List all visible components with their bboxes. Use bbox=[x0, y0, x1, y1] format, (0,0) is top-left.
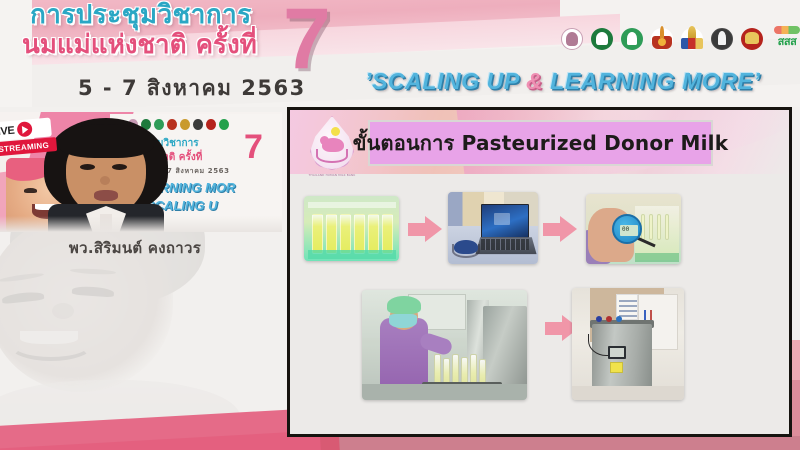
thai-breastfeeding-foundation-logo bbox=[560, 26, 584, 56]
background-band-bottom bbox=[280, 436, 800, 450]
timer-lcd-value: 00 bbox=[622, 226, 629, 233]
speaker-eye-left bbox=[80, 164, 95, 170]
poster-child-eye-left bbox=[24, 188, 37, 193]
conference-title-line2: นมแม่แห่งชาติ ครั้งที่ bbox=[22, 32, 312, 59]
human-milk-bank-drop-icon: THAILAND HUMAN MILK BANK bbox=[304, 116, 360, 178]
streaming-label: STREAMING bbox=[0, 140, 49, 153]
process-arrow-2-icon bbox=[543, 216, 577, 242]
conference-tagline: ’SCALING UP & LEARNING MORE’ bbox=[365, 68, 760, 95]
speaker-nose bbox=[100, 176, 110, 185]
computer-mouse bbox=[454, 240, 478, 254]
speaker-mouth bbox=[94, 190, 118, 201]
speaker-video-inset[interactable]: การประชุมวิชาการ นมแม่แห่งชาติ ครั้งที่ … bbox=[0, 112, 282, 232]
rack-top-bar bbox=[308, 202, 396, 208]
speaker-bottom-fade bbox=[0, 216, 282, 232]
live-streaming-badge: LIVE STREAMING bbox=[0, 117, 58, 161]
digital-timer-photo: 00 bbox=[586, 194, 681, 264]
tagline-part-2: LEARNING MORE’ bbox=[543, 68, 760, 94]
watermark-mouth bbox=[8, 327, 94, 361]
speaker-name-caption: พว.สิริมนต์ คงถาวร bbox=[0, 236, 270, 260]
rack-base bbox=[308, 250, 396, 259]
thaihealth-sss-logo: สสส bbox=[770, 26, 800, 56]
machine-control-panel bbox=[608, 346, 626, 359]
red-emblem-logo bbox=[740, 26, 764, 56]
laptop-keyboard bbox=[481, 239, 529, 250]
royal-institution-red-logo bbox=[650, 26, 674, 56]
drop-cupped-hands bbox=[316, 149, 348, 163]
laptop-record-photo bbox=[448, 192, 538, 264]
milk-drop-highlight bbox=[331, 127, 340, 136]
pasteurizer-machine-photo bbox=[572, 288, 684, 400]
tagline-part-1: ’SCALING UP bbox=[365, 68, 526, 94]
drop-logo-caption: THAILAND HUMAN MILK BANK bbox=[302, 173, 362, 177]
sponsor-logo-row: สสส bbox=[560, 26, 800, 56]
nurse-face-mask bbox=[389, 314, 417, 328]
speaker-person bbox=[44, 118, 168, 232]
ministry-of-public-health-logo bbox=[620, 26, 644, 56]
laptop-screen bbox=[481, 204, 529, 238]
play-icon bbox=[17, 121, 33, 137]
slide-title-text: ขั้นตอนการ Pasteurized Donor Milk bbox=[353, 127, 728, 159]
live-label: LIVE bbox=[0, 124, 15, 138]
mini-poster-edition-number: 7 bbox=[244, 130, 263, 164]
nurse-surgical-cap bbox=[387, 296, 421, 314]
garuda-black-seal-logo bbox=[710, 26, 734, 56]
thaihealth-label: สสส bbox=[770, 32, 800, 50]
slide-stage: การประชุมวิชาการ นมแม่แห่งชาติ ครั้งที่ … bbox=[0, 0, 800, 450]
conference-date: 5 - 7 สิงหาคม 2563 bbox=[78, 72, 306, 105]
speaker-eye-right bbox=[112, 164, 127, 170]
conference-title-line1: การประชุมวิชาการ bbox=[30, 2, 300, 29]
conference-header-banner: การประชุมวิชาการ นมแม่แห่งชาติ ครั้งที่ … bbox=[0, 0, 800, 107]
speaker-bangs bbox=[58, 124, 154, 158]
presentation-slide-panel[interactable]: THAILAND HUMAN MILK BANK ขั้นตอนการ Past… bbox=[287, 107, 792, 437]
tagline-ampersand: & bbox=[526, 68, 543, 94]
process-arrow-1-icon bbox=[408, 216, 442, 242]
machine-warning-label bbox=[610, 362, 623, 373]
conference-edition-number: 7 bbox=[283, 0, 331, 82]
royal-crown-emblem-logo bbox=[680, 26, 704, 56]
timer-photo-rack bbox=[635, 206, 679, 260]
nurse-photo-counter bbox=[362, 384, 527, 400]
milk-bottles-rack-photo bbox=[304, 196, 399, 261]
digital-timer-device: 00 bbox=[612, 214, 642, 244]
watermark-nose bbox=[52, 303, 74, 319]
machine-photo-floor bbox=[572, 386, 684, 400]
nurse-loading-bottles-photo bbox=[362, 290, 527, 400]
slide-background: THAILAND HUMAN MILK BANK ขั้นตอนการ Past… bbox=[290, 110, 789, 434]
health-department-green-logo bbox=[590, 26, 614, 56]
timer-photo-green-base bbox=[635, 253, 679, 262]
slide-title-banner: ขั้นตอนการ Pasteurized Donor Milk bbox=[368, 120, 713, 166]
